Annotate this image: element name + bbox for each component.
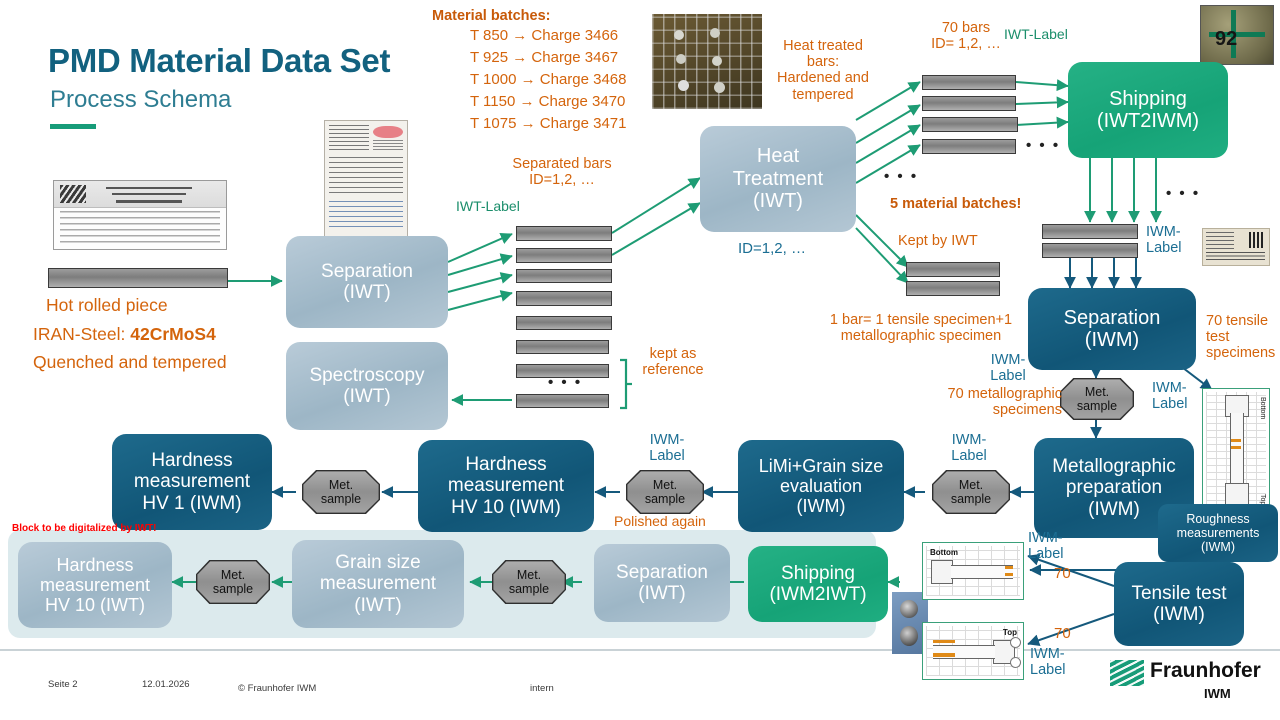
fraunhofer-logo-sub: IWM bbox=[1204, 686, 1231, 701]
iwm-label-tensile: IWM- Label bbox=[1152, 380, 1206, 412]
node-hardness-hv10-iwt[interactable]: Hardness measurement HV 10 (IWT) bbox=[18, 542, 172, 628]
node-spectroscopy-iwt[interactable]: Spectroscopy (IWT) bbox=[286, 342, 448, 430]
material-batches-title: Material batches: bbox=[432, 8, 550, 24]
material-batch-5: T 1075 → Charge 3471 bbox=[470, 116, 627, 133]
met-sample-label: Met. sample bbox=[492, 560, 566, 604]
heat-treatment-id-label: ID=1,2, … bbox=[738, 241, 806, 258]
heat-treated-bar-1 bbox=[922, 75, 1016, 90]
shipping-output-ellipsis: • • • bbox=[1166, 185, 1200, 202]
material-batch-1: T 850 → Charge 3466 bbox=[470, 28, 618, 45]
met-sample-hardness-hv10-iwm: Met. sample bbox=[302, 470, 380, 514]
met-sample-label: Met. sample bbox=[196, 560, 270, 604]
seventy-bottom-label: 70 bbox=[1054, 626, 1071, 643]
material-batch-3: T 1000 → Charge 3468 bbox=[470, 72, 627, 89]
node-roughness-measurements-iwm[interactable]: Roughness measurements (IWM) bbox=[1158, 504, 1278, 562]
block-digitalized-warning: Block to be digitalized by IWT! bbox=[12, 523, 156, 534]
separated-bar-2 bbox=[516, 248, 612, 263]
iwt-document-photo bbox=[324, 120, 408, 240]
seventy-metallographic-label: 70 metallographic specimens bbox=[914, 386, 1062, 418]
iwm-label-met-sample: IWM- Label bbox=[980, 352, 1036, 384]
met-sample-label: Met. sample bbox=[932, 470, 1010, 514]
footer-classification: intern bbox=[530, 683, 554, 694]
separated-bar-4 bbox=[516, 291, 612, 306]
met-sample-separation-iwt-bottom: Met. sample bbox=[492, 560, 566, 604]
heat-treated-bar-2 bbox=[922, 96, 1016, 111]
iwm-label-bars: IWM- Label bbox=[1146, 224, 1194, 256]
iwm-label-metprep: IWM- Label bbox=[1028, 530, 1084, 562]
separated-bar-6 bbox=[516, 340, 609, 354]
node-shipping-iwt2iwm[interactable]: Shipping (IWT2IWM) bbox=[1068, 62, 1228, 158]
separated-bars-note: Separated bars ID=1,2, … bbox=[496, 156, 628, 188]
iran-steel-prefix: IRAN-Steel: bbox=[33, 324, 130, 344]
coin-specimen-photo: 92 bbox=[1200, 5, 1274, 65]
node-tensile-test-iwm[interactable]: Tensile test (IWM) bbox=[1114, 562, 1244, 646]
kept-by-iwt-bar-2 bbox=[906, 281, 1000, 296]
specimen-bottom-label: Bottom bbox=[1259, 397, 1266, 419]
specimen-bottom-caption: Bottom bbox=[930, 548, 958, 557]
node-hardness-hv10-iwm[interactable]: Hardness measurement HV 10 (IWM) bbox=[418, 440, 594, 532]
iran-steel-grade: 42CrMoS4 bbox=[130, 324, 216, 344]
met-sample-label: Met. sample bbox=[302, 470, 380, 514]
met-sample-metallographic-prep: Met. sample bbox=[932, 470, 1010, 514]
met-sample-grain-size-iwt: Met. sample bbox=[196, 560, 270, 604]
separated-bar-5 bbox=[516, 316, 612, 330]
node-heat-treatment-iwt[interactable]: Heat Treatment (IWT) bbox=[700, 126, 856, 232]
iwm-label-photo bbox=[1202, 228, 1270, 266]
page-title: PMD Material Data Set bbox=[48, 42, 390, 80]
heat-treated-bar-3 bbox=[922, 117, 1018, 132]
specimen-top-caption: Top bbox=[1003, 628, 1017, 637]
iwm-bar-1 bbox=[1042, 224, 1138, 239]
separated-bars-ellipsis: • • • bbox=[548, 374, 582, 391]
iran-steel-line: IRAN-Steel: 42CrMoS4 bbox=[33, 325, 216, 345]
node-separation-iwm[interactable]: Separation (IWM) bbox=[1028, 288, 1196, 370]
slide-canvas: PMD Material Data Set Process Schema 92 bbox=[0, 0, 1280, 720]
one-bar-note: 1 bar= 1 tensile specimen+1 metallograph… bbox=[818, 312, 1024, 344]
footer-copyright: © Fraunhofer IWM bbox=[238, 683, 316, 694]
fraunhofer-logo-mark bbox=[1110, 660, 1144, 686]
five-material-batches-label: 5 material batches! bbox=[890, 196, 1021, 212]
iwm-bar-2 bbox=[1042, 243, 1138, 258]
kept-as-reference-label: kept as reference bbox=[636, 346, 710, 378]
iwt-label-left: IWT-Label bbox=[456, 199, 520, 215]
node-hardness-hv1-iwm[interactable]: Hardness measurement HV 1 (IWM) bbox=[112, 434, 272, 530]
node-limi-grain-size-evaluation-iwm[interactable]: LiMi+Grain size evaluation (IWM) bbox=[738, 440, 904, 532]
iwm-label-limi: IWM- Label bbox=[940, 432, 998, 464]
seventy-bars-label: 70 bars ID= 1,2, … bbox=[918, 20, 1014, 52]
node-separation-iwt-bottom[interactable]: Separation (IWT) bbox=[594, 544, 730, 622]
heat-treatment-basket-photo bbox=[652, 14, 762, 109]
node-grain-size-measurement-iwt[interactable]: Grain size measurement (IWT) bbox=[292, 540, 464, 628]
seventy-tensile-label: 70 tensile test specimens bbox=[1206, 313, 1276, 362]
node-separation-iwt[interactable]: Separation (IWT) bbox=[286, 236, 448, 328]
separated-bar-8 bbox=[516, 394, 609, 408]
heat-treated-bars-note: Heat treated bars: Hardened and tempered bbox=[772, 38, 874, 103]
heat-treated-bar-4 bbox=[922, 139, 1016, 154]
fraunhofer-logo-text: Fraunhofer bbox=[1150, 659, 1261, 683]
kept-by-iwt-bar-1 bbox=[906, 262, 1000, 277]
iwt-label-right: IWT-Label bbox=[1004, 27, 1068, 43]
material-batch-2: T 925 → Charge 3467 bbox=[470, 50, 618, 67]
met-sample-separation-iwm: Met. sample bbox=[1060, 378, 1134, 420]
inspection-certificate-photo bbox=[53, 180, 227, 250]
met-sample-label: Met. sample bbox=[626, 470, 704, 514]
tensile-specimen-image-top: Top bbox=[922, 622, 1024, 680]
kept-by-iwt-label: Kept by IWT bbox=[898, 233, 978, 249]
separated-bar-1 bbox=[516, 226, 612, 241]
seventy-top-label: 70 bbox=[1054, 566, 1071, 583]
hot-rolled-piece-label: Hot rolled piece bbox=[46, 296, 168, 316]
quenched-tempered-label: Quenched and tempered bbox=[33, 353, 227, 373]
tensile-specimen-image-vertical: Bottom Top bbox=[1202, 388, 1270, 512]
footer-date: 12.01.2026 bbox=[142, 679, 190, 690]
met-sample-limi: Met. sample bbox=[626, 470, 704, 514]
met-sample-label: Met. sample bbox=[1060, 378, 1134, 420]
polished-again-label: Polished again bbox=[614, 514, 706, 530]
material-batch-4: T 1150 → Charge 3470 bbox=[470, 94, 625, 111]
iwm-label-bottom: IWM- Label bbox=[1030, 646, 1086, 678]
hot-rolled-piece-bar bbox=[48, 268, 228, 288]
footer-page: Seite 2 bbox=[48, 679, 78, 690]
title-accent-rule bbox=[50, 124, 96, 129]
heat-treatment-output-ellipsis: • • • bbox=[884, 168, 918, 185]
page-subtitle: Process Schema bbox=[50, 86, 231, 114]
separated-bar-3 bbox=[516, 269, 612, 283]
tensile-specimen-image-bottom: Bottom bbox=[922, 542, 1024, 600]
node-shipping-iwm2iwt[interactable]: Shipping (IWM2IWT) bbox=[748, 546, 888, 622]
heat-treated-bars-ellipsis: • • • bbox=[1026, 137, 1060, 154]
iwm-label-hardness: IWM- Label bbox=[636, 432, 698, 464]
